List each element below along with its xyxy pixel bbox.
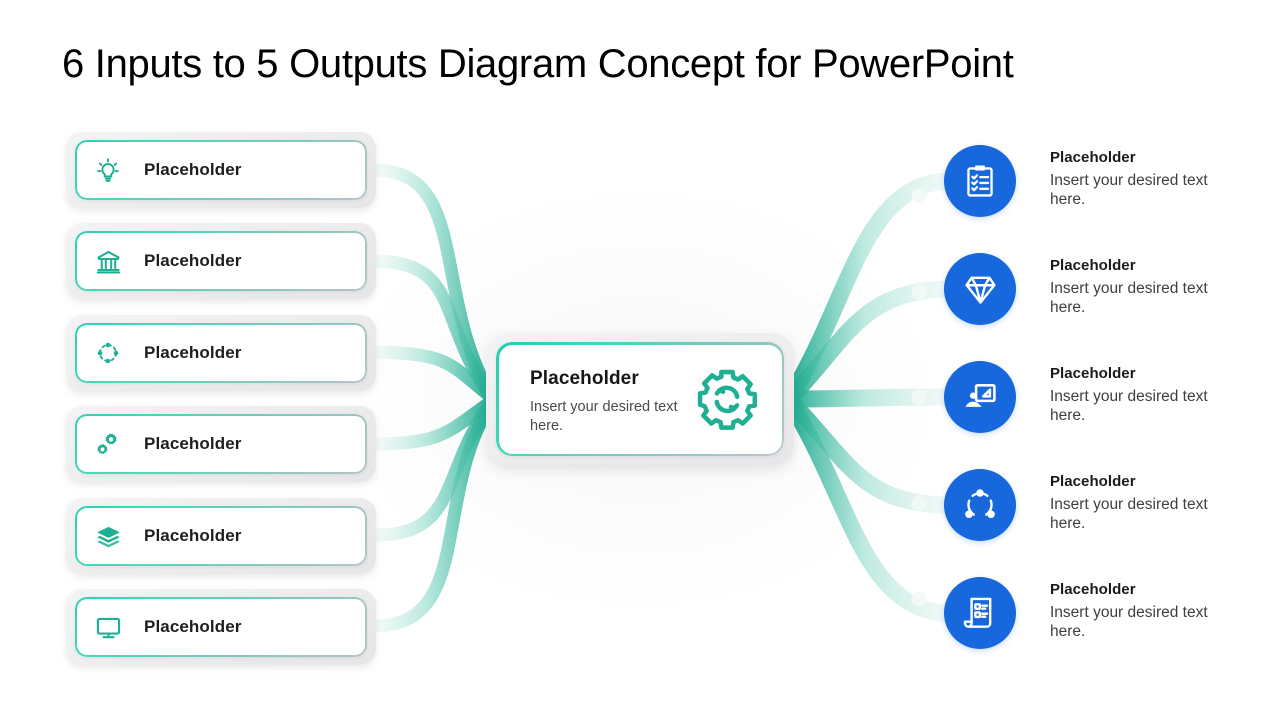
connector-dot-4 [912, 496, 927, 511]
output-body-4: Insert your desired text here. [1050, 495, 1230, 534]
output-text-3: Placeholder Insert your desired text her… [1050, 361, 1230, 426]
gears-icon [93, 429, 123, 459]
center-text-block: Placeholder Insert your desired text her… [530, 368, 680, 437]
input-card-inner-3[interactable]: Placeholder [75, 323, 367, 383]
page-title: 6 Inputs to 5 Outputs Diagram Concept fo… [62, 42, 1014, 87]
center-heading: Placeholder [530, 368, 680, 390]
input-connector-3 [376, 352, 492, 398]
input-card-5[interactable]: Placeholder [66, 498, 376, 574]
connector-dot-3 [912, 390, 927, 405]
input-card-inner-5[interactable]: Placeholder [75, 506, 367, 566]
connector-dot-2 [912, 285, 927, 300]
output-connector-5 [790, 402, 946, 613]
output-connector-group [790, 181, 946, 613]
input-card-inner-4[interactable]: Placeholder [75, 414, 367, 474]
input-label-1: Placeholder [144, 160, 241, 180]
input-card-1[interactable]: Placeholder [66, 132, 376, 208]
output-connector-3 [790, 397, 946, 399]
input-connector-5 [376, 402, 492, 535]
diamond-icon [944, 253, 1016, 325]
gear-refresh-icon [694, 366, 760, 432]
input-label-6: Placeholder [144, 617, 241, 637]
input-connector-4 [376, 401, 492, 444]
output-heading-5: Placeholder [1050, 581, 1230, 598]
output-text-2: Placeholder Insert your desired text her… [1050, 253, 1230, 318]
input-connector-1 [376, 170, 492, 397]
output-heading-4: Placeholder [1050, 473, 1230, 490]
connector-dot-5 [912, 592, 927, 607]
input-connector-6 [376, 403, 492, 626]
output-node-5[interactable]: Placeholder Insert your desired text her… [944, 577, 1230, 649]
presentation-icon [944, 361, 1016, 433]
output-text-4: Placeholder Insert your desired text her… [1050, 469, 1230, 534]
nodes-circle-icon [93, 338, 123, 368]
center-body: Insert your desired text here. [530, 398, 680, 437]
input-connector-group [376, 170, 492, 626]
slide-canvas: 6 Inputs to 5 Outputs Diagram Concept fo… [0, 0, 1280, 720]
connector-dot-1 [912, 189, 927, 204]
input-label-5: Placeholder [144, 526, 241, 546]
input-card-inner-2[interactable]: Placeholder [75, 231, 367, 291]
layers-icon [93, 521, 123, 551]
output-node-2[interactable]: Placeholder Insert your desired text her… [944, 253, 1230, 325]
output-body-2: Insert your desired text here. [1050, 279, 1230, 318]
output-body-1: Insert your desired text here. [1050, 171, 1230, 210]
input-card-3[interactable]: Placeholder [66, 315, 376, 391]
input-card-inner-1[interactable]: Placeholder [75, 140, 367, 200]
output-body-5: Insert your desired text here. [1050, 603, 1230, 642]
input-card-4[interactable]: Placeholder [66, 406, 376, 482]
output-connector-4 [790, 401, 946, 505]
center-card[interactable]: Placeholder Insert your desired text her… [496, 342, 784, 456]
clipboard-check-icon [944, 145, 1016, 217]
input-label-2: Placeholder [144, 251, 241, 271]
input-label-3: Placeholder [144, 343, 241, 363]
output-heading-1: Placeholder [1050, 149, 1230, 166]
output-body-3: Insert your desired text here. [1050, 387, 1230, 426]
input-connector-2 [376, 261, 492, 398]
input-card-inner-6[interactable]: Placeholder [75, 597, 367, 657]
document-list-icon [944, 577, 1016, 649]
bank-icon [93, 246, 123, 276]
center-node[interactable]: Placeholder Insert your desired text her… [486, 333, 794, 465]
output-heading-2: Placeholder [1050, 257, 1230, 274]
monitor-icon [93, 612, 123, 642]
share-network-icon [944, 469, 1016, 541]
input-card-6[interactable]: Placeholder [66, 589, 376, 665]
output-connector-2 [790, 289, 946, 398]
output-heading-3: Placeholder [1050, 365, 1230, 382]
output-node-3[interactable]: Placeholder Insert your desired text her… [944, 361, 1230, 433]
output-text-5: Placeholder Insert your desired text her… [1050, 577, 1230, 642]
input-label-4: Placeholder [144, 434, 241, 454]
output-node-4[interactable]: Placeholder Insert your desired text her… [944, 469, 1230, 541]
lightbulb-icon [93, 155, 123, 185]
output-text-1: Placeholder Insert your desired text her… [1050, 145, 1230, 210]
output-connector-1 [790, 181, 946, 397]
output-node-1[interactable]: Placeholder Insert your desired text her… [944, 145, 1230, 217]
connector-dot-group [912, 189, 927, 607]
input-card-2[interactable]: Placeholder [66, 223, 376, 299]
